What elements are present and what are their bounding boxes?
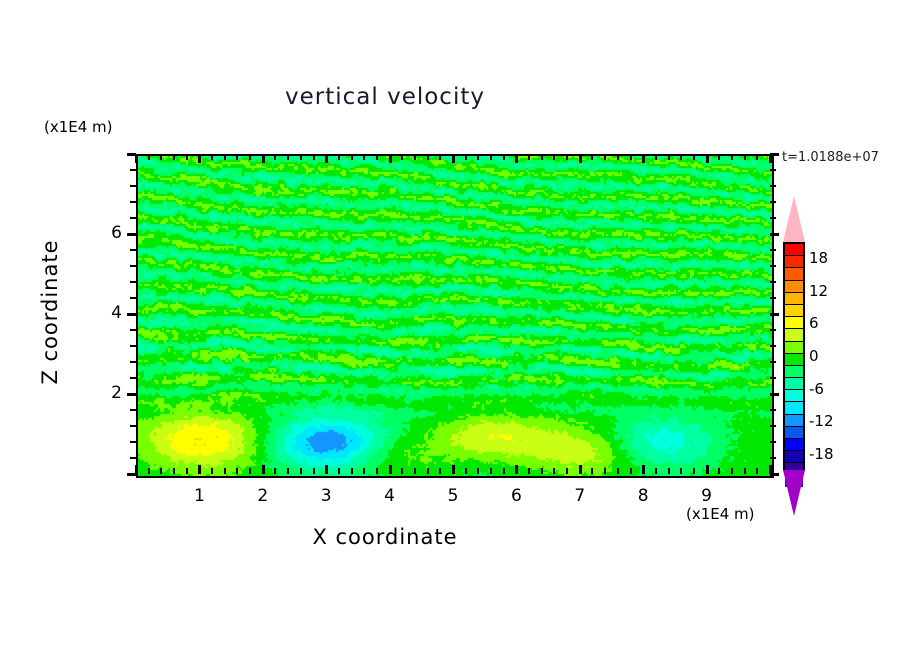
axis-tick: [338, 154, 340, 160]
axis-tick: [604, 468, 606, 474]
axis-tick: [427, 154, 429, 160]
x-tick-label: 8: [623, 486, 663, 506]
axis-tick: [300, 468, 302, 474]
colorbar: 181260-6-12-18: [781, 196, 821, 516]
axis-tick: [389, 154, 392, 163]
axis-tick: [224, 468, 226, 474]
axis-tick: [439, 154, 441, 160]
axis-tick: [313, 154, 315, 160]
axis-tick: [363, 468, 365, 474]
colorbar-under-arrow: [783, 470, 805, 516]
axis-tick: [770, 425, 776, 427]
axis-tick: [553, 154, 555, 160]
colorbar-band: [785, 427, 803, 439]
axis-tick: [287, 468, 289, 474]
x-tick-label: 5: [433, 486, 473, 506]
axis-tick: [148, 468, 150, 474]
axis-tick: [414, 468, 416, 474]
axis-tick: [770, 153, 779, 156]
axis-tick: [249, 468, 251, 474]
axis-tick: [617, 154, 619, 160]
axis-tick: [130, 425, 136, 427]
axis-tick: [130, 185, 136, 187]
axis-tick: [503, 154, 505, 160]
colorbar-band: [785, 329, 803, 341]
axis-tick: [770, 217, 776, 219]
axis-tick: [249, 154, 251, 160]
colorbar-band: [785, 354, 803, 366]
colorbar-label: -18: [809, 445, 834, 463]
axis-tick: [630, 468, 632, 474]
colorbar-band: [785, 317, 803, 329]
colorbar-band: [785, 366, 803, 378]
axis-tick: [731, 468, 733, 474]
y-axis-unit-label: (x1E4 m): [44, 118, 113, 136]
axis-tick: [642, 154, 645, 163]
colorbar-band: [785, 402, 803, 414]
y-tick-label: 2: [92, 383, 122, 403]
axis-tick: [130, 281, 136, 283]
axis-tick: [756, 154, 758, 160]
axis-tick: [655, 154, 657, 160]
axis-tick: [127, 473, 136, 476]
axis-tick: [127, 233, 136, 236]
axis-tick: [553, 468, 555, 474]
axis-tick: [127, 313, 136, 316]
time-stamp-label: t=1.0188e+07: [782, 150, 879, 165]
axis-tick: [770, 265, 776, 267]
colorbar-band: [785, 342, 803, 354]
axis-tick: [363, 154, 365, 160]
colorbar-band: [785, 268, 803, 280]
axis-tick: [452, 154, 455, 163]
axis-tick: [274, 468, 276, 474]
axis-tick: [198, 154, 201, 163]
colorbar-over-arrow: [783, 196, 805, 242]
axis-tick: [186, 154, 188, 160]
colorbar-band: [785, 415, 803, 427]
axis-tick: [693, 154, 695, 160]
axis-tick: [130, 361, 136, 363]
axis-tick: [351, 468, 353, 474]
colorbar-label: 6: [809, 314, 819, 332]
axis-tick: [452, 465, 455, 474]
x-tick-label: 3: [306, 486, 346, 506]
axis-tick: [770, 281, 776, 283]
colorbar-label: 0: [809, 347, 819, 365]
axis-tick: [770, 169, 776, 171]
axis-tick: [130, 441, 136, 443]
axis-tick: [770, 185, 776, 187]
axis-tick: [338, 468, 340, 474]
axis-tick: [130, 409, 136, 411]
axis-tick: [566, 154, 568, 160]
axis-tick: [718, 468, 720, 474]
axis-tick: [376, 468, 378, 474]
axis-tick: [465, 468, 467, 474]
axis-tick: [591, 468, 593, 474]
axis-tick: [770, 297, 776, 299]
axis-tick: [127, 393, 136, 396]
axis-tick: [173, 468, 175, 474]
y-tick-label: 6: [92, 223, 122, 243]
x-tick-label: 6: [496, 486, 536, 506]
y-axis-title: Z coordinate: [38, 202, 62, 422]
axis-tick: [706, 465, 709, 474]
axis-tick: [770, 457, 776, 459]
axis-tick: [236, 154, 238, 160]
axis-tick: [130, 457, 136, 459]
axis-tick: [770, 473, 779, 476]
axis-tick: [389, 465, 392, 474]
axis-tick: [300, 154, 302, 160]
axis-tick: [770, 201, 776, 203]
axis-tick: [477, 468, 479, 474]
axis-tick: [224, 154, 226, 160]
axis-tick: [439, 468, 441, 474]
x-tick-label: 1: [179, 486, 219, 506]
axis-tick: [566, 468, 568, 474]
axis-tick: [503, 468, 505, 474]
axis-tick: [693, 468, 695, 474]
colorbar-bands: [783, 242, 805, 470]
colorbar-label: 18: [809, 249, 828, 267]
colorbar-band: [785, 281, 803, 293]
colorbar-band: [785, 439, 803, 451]
axis-tick: [515, 465, 518, 474]
contour-plot-area: [136, 154, 774, 478]
axis-tick: [744, 154, 746, 160]
axis-tick: [744, 468, 746, 474]
x-tick-label: 7: [560, 486, 600, 506]
axis-tick: [731, 154, 733, 160]
axis-tick: [718, 154, 720, 160]
axis-tick: [130, 217, 136, 219]
x-tick-label: 2: [243, 486, 283, 506]
axis-tick: [541, 468, 543, 474]
axis-tick: [287, 154, 289, 160]
axis-tick: [706, 154, 709, 163]
axis-tick: [642, 465, 645, 474]
colorbar-band: [785, 451, 803, 463]
colorbar-band: [785, 293, 803, 305]
axis-tick: [655, 468, 657, 474]
axis-tick: [130, 169, 136, 171]
axis-tick: [770, 441, 776, 443]
axis-tick: [414, 154, 416, 160]
x-axis-unit-label: (x1E4 m): [686, 505, 755, 523]
axis-tick: [130, 201, 136, 203]
axis-tick: [427, 468, 429, 474]
colorbar-band: [785, 305, 803, 317]
axis-tick: [211, 468, 213, 474]
axis-tick: [173, 154, 175, 160]
axis-tick: [130, 265, 136, 267]
axis-tick: [541, 154, 543, 160]
axis-tick: [198, 465, 201, 474]
axis-tick: [770, 233, 779, 236]
axis-tick: [148, 154, 150, 160]
colorbar-band: [785, 390, 803, 402]
axis-tick: [127, 153, 136, 156]
colorbar-label: -12: [809, 412, 834, 430]
axis-tick: [130, 329, 136, 331]
axis-tick: [515, 154, 518, 163]
x-tick-label: 9: [687, 486, 727, 506]
y-tick-label: 4: [92, 303, 122, 323]
axis-tick: [376, 154, 378, 160]
axis-tick: [401, 468, 403, 474]
colorbar-band: [785, 256, 803, 268]
colorbar-label: -6: [809, 380, 824, 398]
axis-tick: [770, 249, 776, 251]
axis-tick: [579, 465, 582, 474]
page-title: vertical velocity: [0, 84, 770, 110]
axis-tick: [262, 465, 265, 474]
axis-tick: [465, 154, 467, 160]
colorbar-band: [785, 244, 803, 256]
axis-tick: [630, 154, 632, 160]
axis-tick: [770, 345, 776, 347]
axis-tick: [490, 468, 492, 474]
axis-tick: [770, 393, 779, 396]
axis-tick: [668, 154, 670, 160]
axis-tick: [160, 154, 162, 160]
axis-tick: [313, 468, 315, 474]
axis-tick: [617, 468, 619, 474]
axis-tick: [130, 377, 136, 379]
axis-tick: [160, 468, 162, 474]
axis-tick: [756, 468, 758, 474]
axis-tick: [770, 329, 776, 331]
axis-tick: [770, 409, 776, 411]
axis-tick: [668, 468, 670, 474]
axis-tick: [770, 361, 776, 363]
axis-tick: [274, 154, 276, 160]
colorbar-band: [785, 378, 803, 390]
vertical-velocity-field: [138, 156, 772, 476]
axis-tick: [325, 465, 328, 474]
axis-tick: [401, 154, 403, 160]
axis-tick: [528, 468, 530, 474]
axis-tick: [770, 313, 779, 316]
x-axis-title: X coordinate: [0, 525, 770, 549]
axis-tick: [528, 154, 530, 160]
axis-tick: [130, 345, 136, 347]
axis-tick: [579, 154, 582, 163]
x-tick-label: 4: [370, 486, 410, 506]
axis-tick: [490, 154, 492, 160]
axis-tick: [186, 468, 188, 474]
axis-tick: [325, 154, 328, 163]
axis-tick: [130, 297, 136, 299]
axis-tick: [236, 468, 238, 474]
axis-tick: [351, 154, 353, 160]
axis-tick: [477, 154, 479, 160]
colorbar-label: 12: [809, 282, 828, 300]
axis-tick: [130, 249, 136, 251]
axis-tick: [770, 377, 776, 379]
axis-tick: [262, 154, 265, 163]
axis-tick: [680, 154, 682, 160]
axis-tick: [211, 154, 213, 160]
axis-tick: [604, 154, 606, 160]
colorbar-tick-labels: 181260-6-12-18: [809, 242, 869, 470]
axis-tick: [680, 468, 682, 474]
axis-tick: [591, 154, 593, 160]
